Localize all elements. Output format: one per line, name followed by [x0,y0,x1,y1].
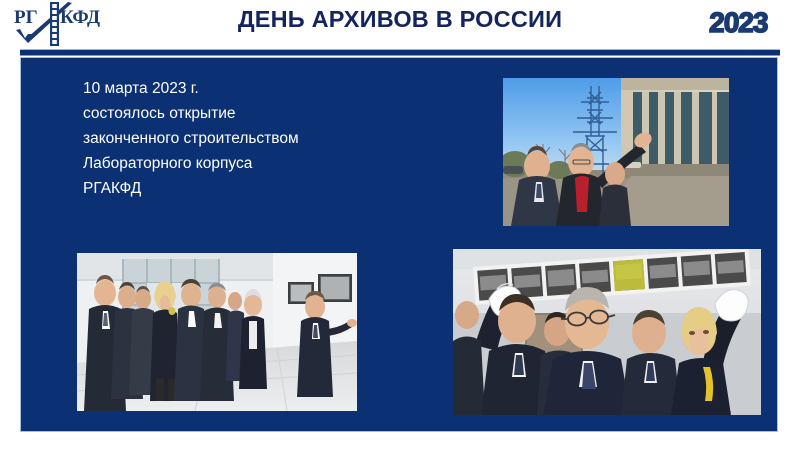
photo-film-inspection: Люди в белых перчатках рассматривают на … [453,249,761,415]
photo-interior-hall: Группа людей в деловых костюмах в светло… [77,253,357,411]
svg-text:КФД: КФД [60,7,100,28]
slide-header: Логотип РГАКФД РГ КФД ДЕНЬ АРХИВОВ В Р [0,0,800,49]
page-title: ДЕНЬ АРХИВОВ В РОССИИ [150,6,650,33]
body-line: 10 марта 2023 г. [83,76,483,101]
body-line: состоялось открытие [83,101,483,126]
photo-building-exterior: Двое мужчин в пальто стоят на улице у но… [503,78,729,226]
content-panel: 10 марта 2023 г. состоялось открытие зак… [20,57,778,432]
body-line: законченного строительством [83,126,483,151]
slide: Логотип РГАКФД РГ КФД ДЕНЬ АРХИВОВ В Р [0,0,800,450]
year-badge: 2023 [692,4,786,40]
body-line: Лабораторного корпуса [83,151,483,176]
svg-text:2023: 2023 [709,7,769,38]
body-text: 10 марта 2023 г. состоялось открытие зак… [83,76,483,201]
header-divider [20,49,780,56]
svg-text:РГ: РГ [14,7,38,28]
body-line: РГАКФД [83,176,483,201]
rgakfd-logo-icon: Логотип РГАКФД РГ КФД [8,0,118,48]
